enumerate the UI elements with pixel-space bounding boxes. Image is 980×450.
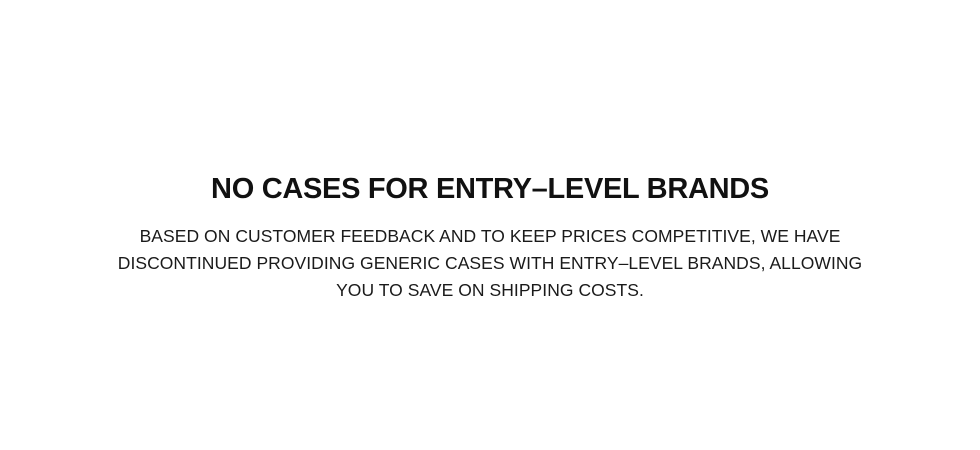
description-line: BASED ON CUSTOMER FEEDBACK AND TO KEEP P…	[95, 223, 885, 250]
description-line: DISCONTINUED PROVIDING GENERIC CASES WIT…	[95, 250, 885, 277]
announcement-banner: NO CASES FOR ENTRY–LEVEL BRANDS BASED ON…	[0, 0, 980, 450]
announcement-description: BASED ON CUSTOMER FEEDBACK AND TO KEEP P…	[95, 223, 885, 304]
page-title: NO CASES FOR ENTRY–LEVEL BRANDS	[0, 169, 980, 209]
description-line: YOU TO SAVE ON SHIPPING COSTS.	[95, 277, 885, 304]
